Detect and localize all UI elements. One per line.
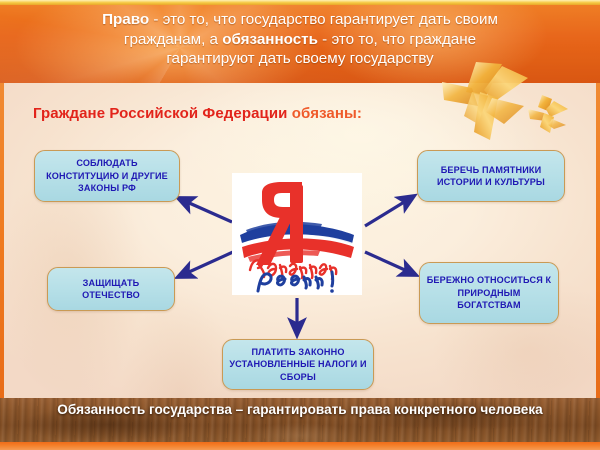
arrow-to-nature — [365, 252, 416, 275]
ribbon-burst-small-icon — [526, 95, 572, 135]
page-title: Граждане Российской Федерации обязаны: — [33, 105, 362, 122]
left-orange-strip — [0, 83, 4, 398]
footer-banner-text: Обязанность государства – гарантировать … — [0, 398, 600, 419]
header-banner-text: Право - это то, что государство гарантир… — [0, 5, 600, 69]
obligation-box-nature[interactable]: БЕРЕЖНО ОТНОСИТЬСЯ К ПРИРОДНЫМ БОГАТСТВА… — [419, 262, 559, 324]
logo-graphic — [232, 173, 362, 295]
footer-banner: Обязанность государства – гарантировать … — [0, 398, 600, 442]
header-line2: гражданам, а обязанность - это то, что г… — [124, 31, 476, 48]
page-title-light: обязаны: — [288, 105, 363, 122]
header-line1-rest: - это то, что государство гарантирует да… — [149, 11, 498, 28]
center-logo-ya-grazhdanin-rossii — [232, 173, 362, 295]
slide-root: Право - это то, что государство гарантир… — [0, 0, 600, 450]
right-orange-strip — [596, 83, 600, 398]
header-banner: Право - это то, что государство гарантир… — [0, 5, 600, 83]
header-line1: Право - это то, что государство гарантир… — [102, 11, 498, 28]
header-keyword-pravo: Право — [102, 11, 149, 28]
arrow-to-defend — [178, 252, 233, 277]
obligation-box-monuments[interactable]: БЕРЕЧЬ ПАМЯТНИКИ ИСТОРИИ И КУЛЬТУРЫ — [417, 150, 565, 202]
obligation-box-constitution[interactable]: СОБЛЮДАТЬ КОНСТИТУЦИЮ И ДРУГИЕ ЗАКОНЫ РФ — [34, 150, 180, 202]
header-line2-rest: - это то, что граждане — [318, 31, 476, 48]
obligation-box-defend[interactable]: ЗАЩИЩАТЬ ОТЕЧЕСТВО — [47, 267, 175, 311]
arrow-to-constitution — [178, 198, 232, 222]
page-title-bold: Граждане Российской Федерации — [33, 105, 288, 122]
arrow-to-monuments — [365, 196, 414, 226]
header-keyword-obyazannost: обязанность — [222, 31, 318, 48]
header-line2-a: гражданам, а — [124, 31, 222, 48]
obligation-box-taxes[interactable]: ПЛАТИТЬ ЗАКОННО УСТАНОВЛЕННЫЕ НАЛОГИ И С… — [222, 339, 374, 390]
header-line3: гарантируют дать своему государству — [166, 50, 433, 67]
bottom-orange-strip — [0, 442, 600, 450]
